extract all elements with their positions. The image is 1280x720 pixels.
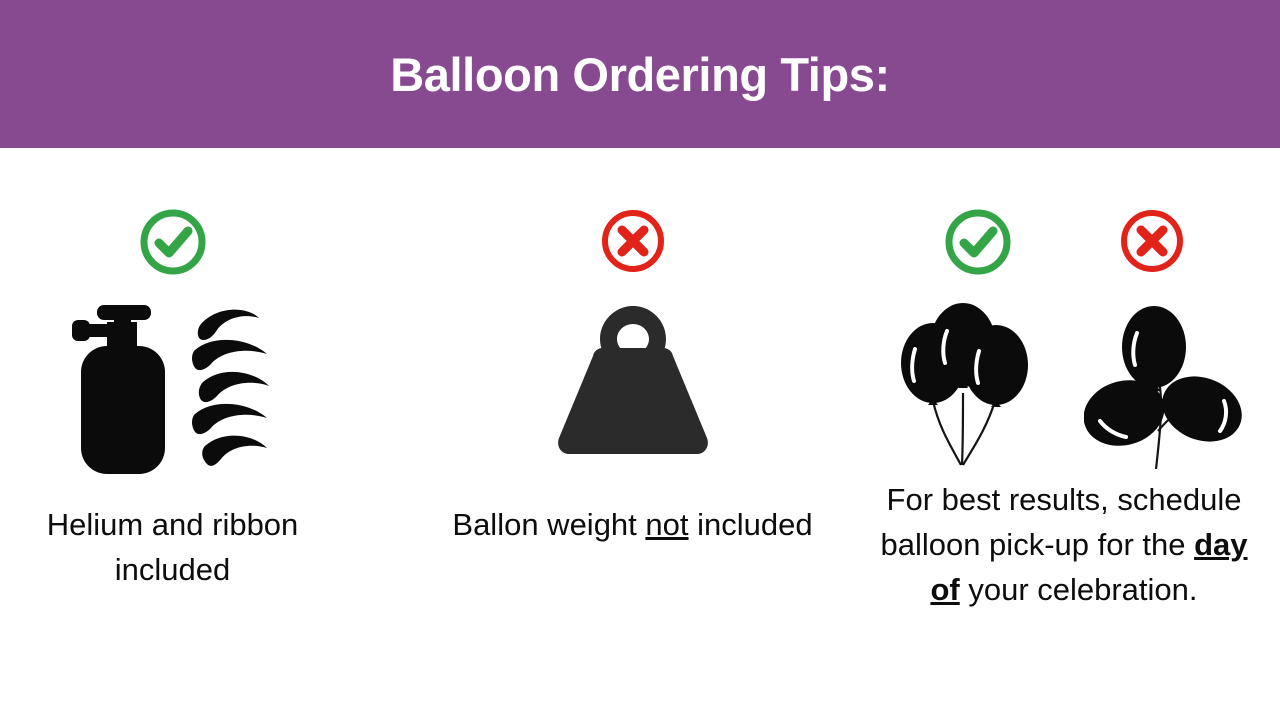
helium-tank-icon (67, 296, 179, 474)
tip-1-marks-row (0, 206, 345, 278)
curled-ribbon-icon (187, 296, 279, 474)
tip-2-caption: Ballon weight not included (430, 503, 835, 548)
green-check-icon (942, 206, 1014, 278)
tip-2-caption-part-1: Ballon weight (452, 507, 645, 542)
tip-1-art-row (0, 296, 345, 474)
page-title: Balloon Ordering Tips: (390, 51, 890, 98)
tip-3-art-row (848, 293, 1280, 475)
tip-helium-and-ribbon: Helium and ribbon included (0, 148, 345, 720)
tip-2-marks-row (430, 206, 835, 276)
red-x-icon (1117, 206, 1187, 276)
tip-1-caption: Helium and ribbon included (0, 503, 345, 593)
green-check-icon (137, 206, 209, 278)
tip-3-marks-row (848, 206, 1280, 278)
tips-area: Helium and ribbon included (0, 148, 1280, 720)
tip-2-caption-part-3: included (689, 507, 813, 542)
tip-3-caption-part-3: your celebration. (960, 572, 1198, 607)
tip-2-art-row (430, 296, 835, 464)
tip-3-caption: For best results, schedule balloon pick-… (848, 478, 1280, 613)
red-x-icon (598, 206, 668, 276)
tip-day-of-pickup: For best results, schedule balloon pick-… (848, 148, 1280, 720)
slide-root: Balloon Ordering Tips: (0, 0, 1280, 720)
balloon-weight-icon (547, 296, 719, 464)
fresh-balloon-bouquet-icon (887, 293, 1039, 475)
tip-1-caption-text: Helium and ribbon included (47, 507, 299, 587)
deflated-balloon-bouquet-icon (1084, 293, 1242, 475)
tip-2-caption-part-not: not (645, 507, 688, 542)
header-band: Balloon Ordering Tips: (0, 0, 1280, 148)
tip-balloon-weight: Ballon weight not included (430, 148, 835, 720)
tip-3-caption-part-1: For best results, schedule balloon pick-… (880, 482, 1241, 562)
